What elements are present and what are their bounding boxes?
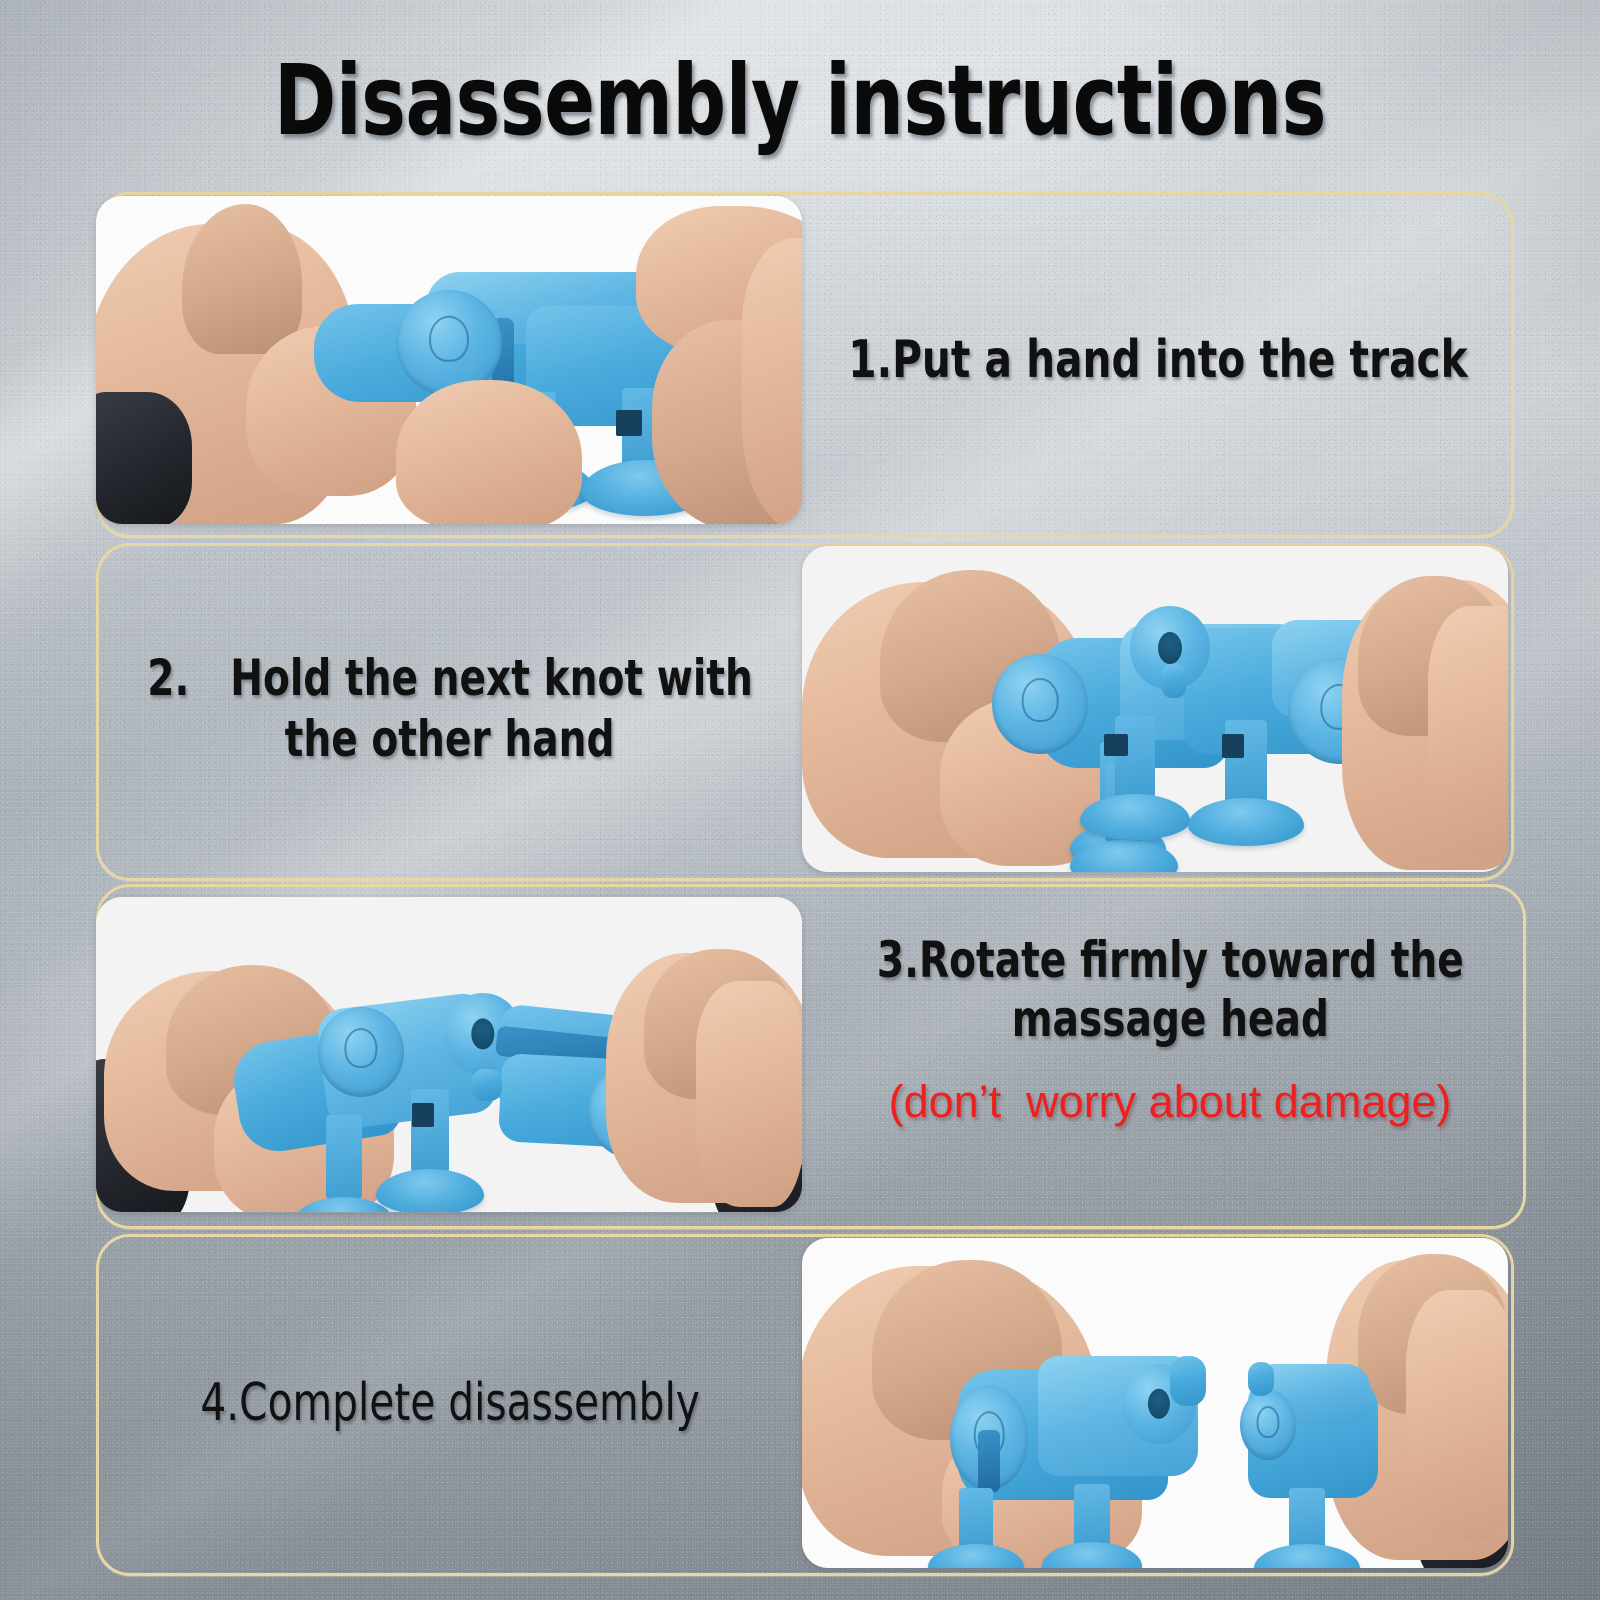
step-4-line-1: 4.Complete disassembly xyxy=(200,1372,700,1434)
step-2-text: 2. Hold the next knot with the other han… xyxy=(110,548,790,870)
step-1-photo xyxy=(96,196,802,524)
step-3-line-1: 3.Rotate firmly toward the xyxy=(877,931,1464,990)
step-3-text: 3.Rotate firmly toward the massage head xyxy=(830,900,1510,1080)
step-1-line-1: 1.Put a hand into the track xyxy=(848,330,1467,390)
step-3-line-2: massage head xyxy=(1011,990,1328,1049)
step-2-line-2: the other hand xyxy=(285,709,615,770)
step-3-warning-text: (don’t worry about damage) xyxy=(889,1076,1452,1128)
page-title: Disassembly instructions xyxy=(112,52,1488,149)
step-3-warning: (don’t worry about damage) xyxy=(830,1062,1510,1142)
step-4-photo xyxy=(802,1238,1508,1568)
step-2-line-1: 2. Hold the next knot with xyxy=(147,648,753,709)
step-1-text: 1.Put a hand into the track xyxy=(820,200,1496,520)
step-4-text: 4.Complete disassembly xyxy=(110,1240,790,1566)
instruction-infographic: Disassembly instructions xyxy=(0,0,1600,1600)
step-2-photo xyxy=(802,546,1508,872)
step-3-photo xyxy=(96,897,802,1212)
